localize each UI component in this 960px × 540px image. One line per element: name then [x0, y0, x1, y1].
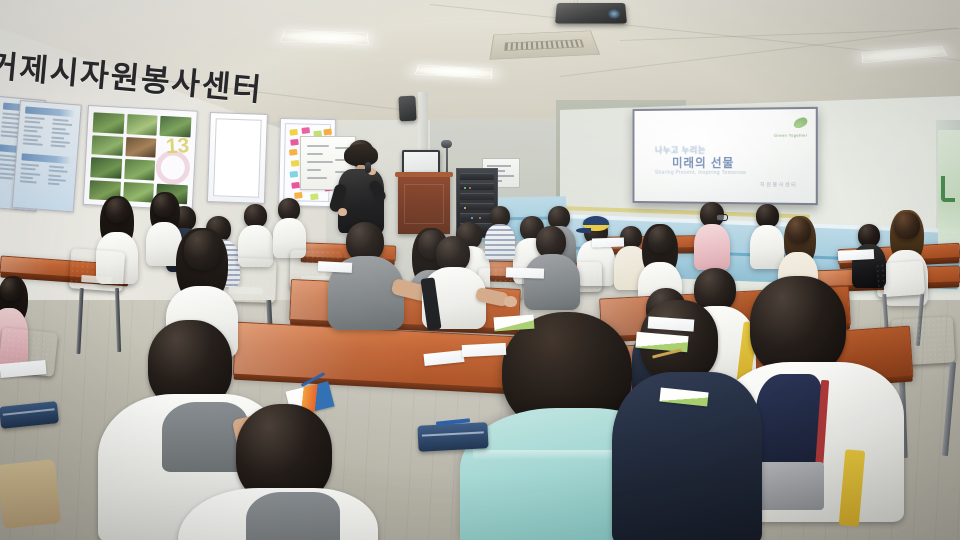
worksheet: [506, 267, 544, 278]
presenter-hair: [344, 144, 378, 166]
poster-number-label: 13: [165, 134, 190, 159]
podium: [398, 172, 450, 234]
podium-monitor: [402, 150, 440, 174]
slide-footer: 자원봉사센터: [760, 181, 797, 188]
slide-title-line2: 미래의 선물: [672, 154, 734, 171]
slide-surface: Green Together 나누고 누리는 미래의 선물 Sharing Pr…: [634, 109, 815, 203]
uniform-hem: [754, 462, 824, 510]
chair: [875, 260, 925, 297]
speaker-icon: [398, 96, 416, 122]
worksheet: [494, 315, 535, 332]
blank-white-poster: [207, 112, 268, 204]
worksheet: [838, 249, 874, 261]
ac-vent-icon: [489, 31, 600, 60]
slide-logo: Green Together: [774, 115, 808, 138]
projector-icon: [555, 3, 627, 24]
uniform-panel: [756, 374, 822, 466]
microphone-icon: [441, 140, 452, 148]
handheld-microphone-icon: [365, 162, 371, 173]
photo-collage-poster: 13: [83, 105, 198, 211]
slide-subtitle: Sharing Present, Inspiring Tomorrow: [655, 170, 746, 176]
classroom-photo: 거제시자원봉사센터: [0, 0, 960, 540]
worksheet: [592, 237, 624, 247]
chair: [69, 248, 126, 292]
slide-logo-word: Green Together: [774, 134, 808, 138]
projection-screen: Green Together 나누고 누리는 미래의 선물 Sharing Pr…: [633, 107, 818, 205]
schedule-poster-2: [12, 100, 82, 212]
leaf-icon: [792, 116, 808, 129]
green-wall-poster: [938, 130, 960, 250]
worksheet: [318, 261, 352, 273]
bag-on-floor: [0, 459, 61, 529]
pencil-case: [417, 422, 488, 452]
baseball-cap-icon: [583, 216, 609, 231]
presenter-hand-left: [338, 208, 347, 216]
glasses-icon: [716, 214, 728, 221]
worksheet: [462, 343, 507, 357]
sleeve: [246, 492, 340, 540]
